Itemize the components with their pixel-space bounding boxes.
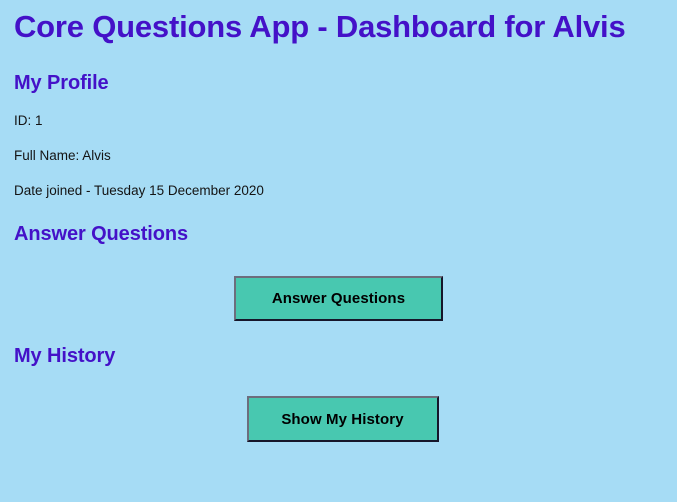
my-profile-heading: My Profile bbox=[14, 71, 663, 95]
profile-details: ID: 1 Full Name: Alvis Date joined - Tue… bbox=[14, 113, 663, 199]
dashboard-page: Core Questions App - Dashboard for Alvis… bbox=[0, 0, 677, 502]
answer-questions-button-row: Answer Questions bbox=[14, 276, 663, 321]
profile-id: ID: 1 bbox=[14, 113, 663, 129]
show-history-button-row: Show My History bbox=[14, 396, 663, 442]
profile-date-joined: Date joined - Tuesday 15 December 2020 bbox=[14, 183, 663, 199]
profile-full-name: Full Name: Alvis bbox=[14, 148, 663, 164]
page-title: Core Questions App - Dashboard for Alvis bbox=[14, 0, 663, 48]
my-history-heading: My History bbox=[14, 344, 663, 368]
answer-questions-button[interactable]: Answer Questions bbox=[234, 276, 443, 321]
answer-questions-heading: Answer Questions bbox=[14, 222, 663, 246]
show-my-history-button[interactable]: Show My History bbox=[247, 396, 439, 442]
